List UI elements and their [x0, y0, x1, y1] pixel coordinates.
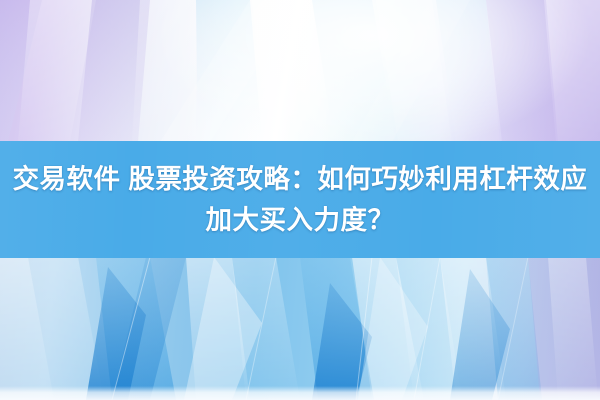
- top-facet-shapes: [0, 0, 600, 142]
- title-line-2: 加大买入力度？: [206, 200, 395, 241]
- title-line-1: 交易软件 股票投资攻略：如何巧妙利用杠杆效应: [13, 159, 588, 200]
- promotional-banner: 交易软件 股票投资攻略：如何巧妙利用杠杆效应 加大买入力度？: [0, 0, 600, 400]
- bottom-gradient-panel: [0, 257, 600, 400]
- bottom-facet-shapes: [0, 257, 600, 400]
- bottom-fade-strip: [0, 386, 600, 400]
- title-band: 交易软件 股票投资攻略：如何巧妙利用杠杆效应 加大买入力度？: [0, 141, 600, 258]
- top-gradient-panel: [0, 0, 600, 142]
